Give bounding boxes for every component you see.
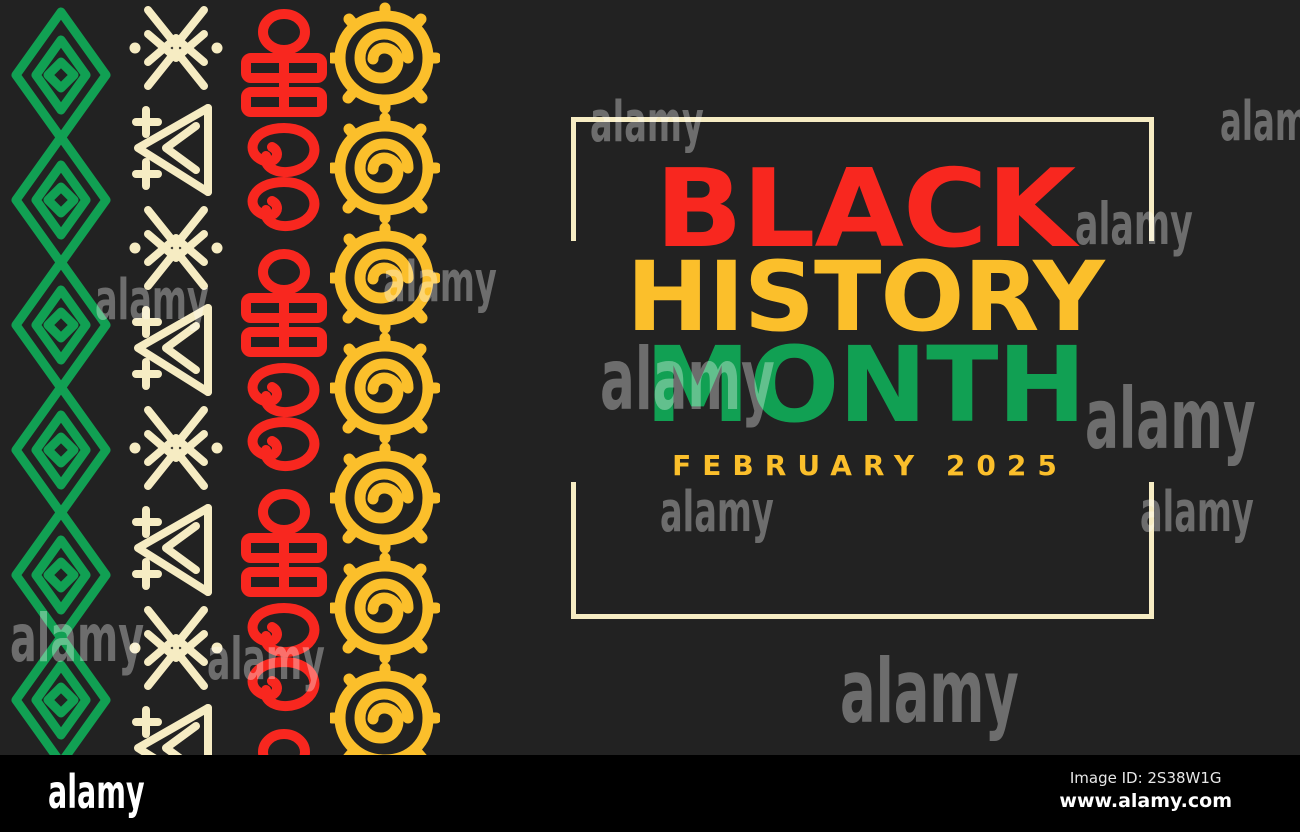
poster-artwork: BLACK HISTORY MONTH FEBRUARY 2025 alamy … [0, 0, 1300, 755]
pattern-column-yellow-sun-spirals [330, 0, 440, 755]
alamy-footer-bar: alamy Image ID: 2S38W1G www.alamy.com [0, 755, 1300, 832]
footer-credits: Image ID: 2S38W1G www.alamy.com [1059, 769, 1232, 813]
frame-bracket-bottom-right [860, 482, 1154, 619]
poster-stage: BLACK HISTORY MONTH FEBRUARY 2025 alamy … [0, 0, 1300, 832]
watermark-text: alamy [1220, 90, 1300, 153]
watermark-text: alamy [840, 640, 1019, 743]
watermark-text: alamy [660, 480, 774, 545]
watermark-text: alamy [590, 90, 704, 155]
headline-block: BLACK HISTORY MONTH FEBRUARY 2025 [571, 160, 1159, 482]
alamy-url-link[interactable]: www.alamy.com [1059, 789, 1232, 814]
frame-bracket-bottom-left [571, 482, 871, 619]
watermark-text: alamy [1140, 480, 1254, 545]
headline-line-month: MONTH [565, 338, 1165, 434]
event-date: FEBRUARY 2025 [571, 449, 1159, 482]
pattern-column-green-diamonds [2, 0, 120, 755]
pattern-column-red-adinkra [232, 0, 336, 755]
alamy-logo[interactable]: alamy [48, 765, 145, 819]
pattern-column-cream-adinkra [122, 0, 230, 755]
image-id-label: Image ID: 2S38W1G [1059, 769, 1232, 789]
